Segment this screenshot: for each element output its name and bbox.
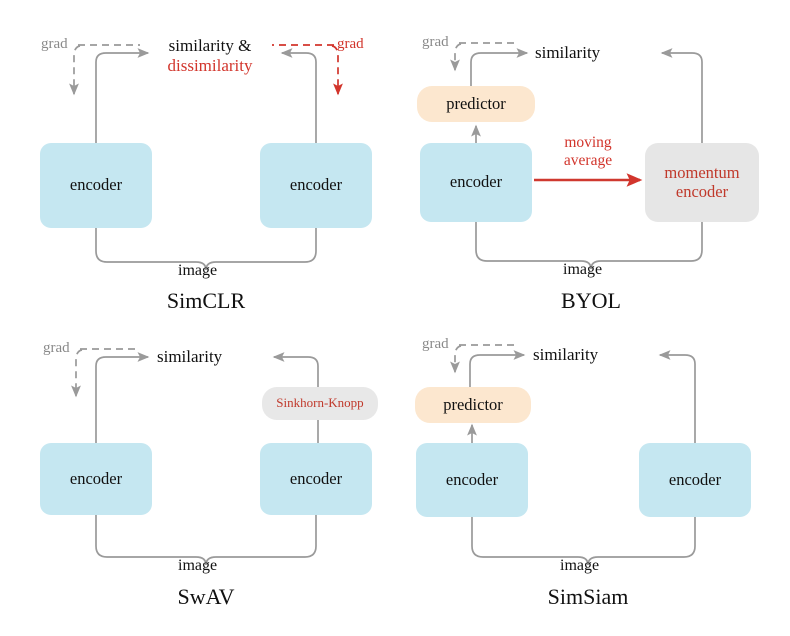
byol-image-label: image — [563, 261, 602, 280]
byol-predictor-forward-arrow — [471, 53, 527, 86]
byol-momentum-forward-arrow — [662, 53, 702, 143]
simsiam-objective-label: similarity — [533, 345, 598, 365]
simclr-objective-label: similarity & dissimilarity — [155, 36, 265, 76]
simclr-right-forward-arrow — [282, 53, 316, 143]
simclr-grad-left-label: grad — [41, 36, 68, 54]
simsiam-image-label: image — [560, 557, 599, 576]
panel-title-swav: SwAV — [106, 584, 306, 610]
swav-sinkhorn-forward-arrow — [274, 357, 318, 387]
byol-moving-text: moving — [564, 134, 611, 151]
swav-grad-label: grad — [43, 340, 70, 358]
arrows-layer — [0, 0, 790, 636]
simsiam-encoder-left[interactable]: encoder — [416, 443, 528, 517]
simclr-encoder-right[interactable]: encoder — [260, 143, 372, 228]
simclr-similarity-text: similarity & — [169, 36, 252, 55]
simclr-dissimilarity-text: dissimilarity — [155, 56, 265, 76]
byol-momentum-encoder-text: encoder — [676, 183, 728, 201]
simsiam-predictor-forward-arrow — [470, 355, 524, 387]
byol-momentum-text: momentum — [664, 164, 739, 182]
byol-encoder-left[interactable]: encoder — [420, 143, 532, 222]
panel-title-byol: BYOL — [491, 288, 691, 314]
byol-moving-average-label: moving average — [541, 134, 635, 171]
byol-grad-arrow — [455, 43, 516, 70]
simsiam-predictor-box[interactable]: predictor — [415, 387, 531, 423]
self-supervised-methods-figure: grad grad similarity & dissimilarity enc… — [0, 0, 790, 636]
simclr-left-forward-arrow — [96, 53, 148, 143]
swav-image-label: image — [178, 557, 217, 576]
swav-encoder-left[interactable]: encoder — [40, 443, 152, 515]
byol-grad-label: grad — [422, 34, 449, 52]
swav-objective-label: similarity — [157, 347, 222, 367]
panel-title-simclr: SimCLR — [106, 288, 306, 314]
swav-left-forward-arrow — [96, 357, 148, 443]
swav-grad-arrow — [76, 349, 140, 396]
byol-momentum-encoder-box[interactable]: momentum encoder — [645, 143, 759, 222]
panel-title-simsiam: SimSiam — [488, 584, 688, 610]
simsiam-right-forward-arrow — [660, 355, 695, 443]
simsiam-encoder-right[interactable]: encoder — [639, 443, 751, 517]
simclr-grad-right-label: grad — [337, 36, 364, 54]
byol-predictor-box[interactable]: predictor — [417, 86, 535, 122]
byol-average-text: average — [564, 152, 612, 169]
simclr-image-label: image — [178, 262, 217, 281]
simsiam-grad-arrow — [455, 345, 515, 372]
simclr-encoder-left[interactable]: encoder — [40, 143, 152, 228]
simsiam-grad-label: grad — [422, 336, 449, 354]
byol-objective-label: similarity — [535, 43, 600, 63]
swav-sinkhorn-knopp-box[interactable]: Sinkhorn-Knopp — [262, 387, 378, 420]
swav-encoder-right[interactable]: encoder — [260, 443, 372, 515]
